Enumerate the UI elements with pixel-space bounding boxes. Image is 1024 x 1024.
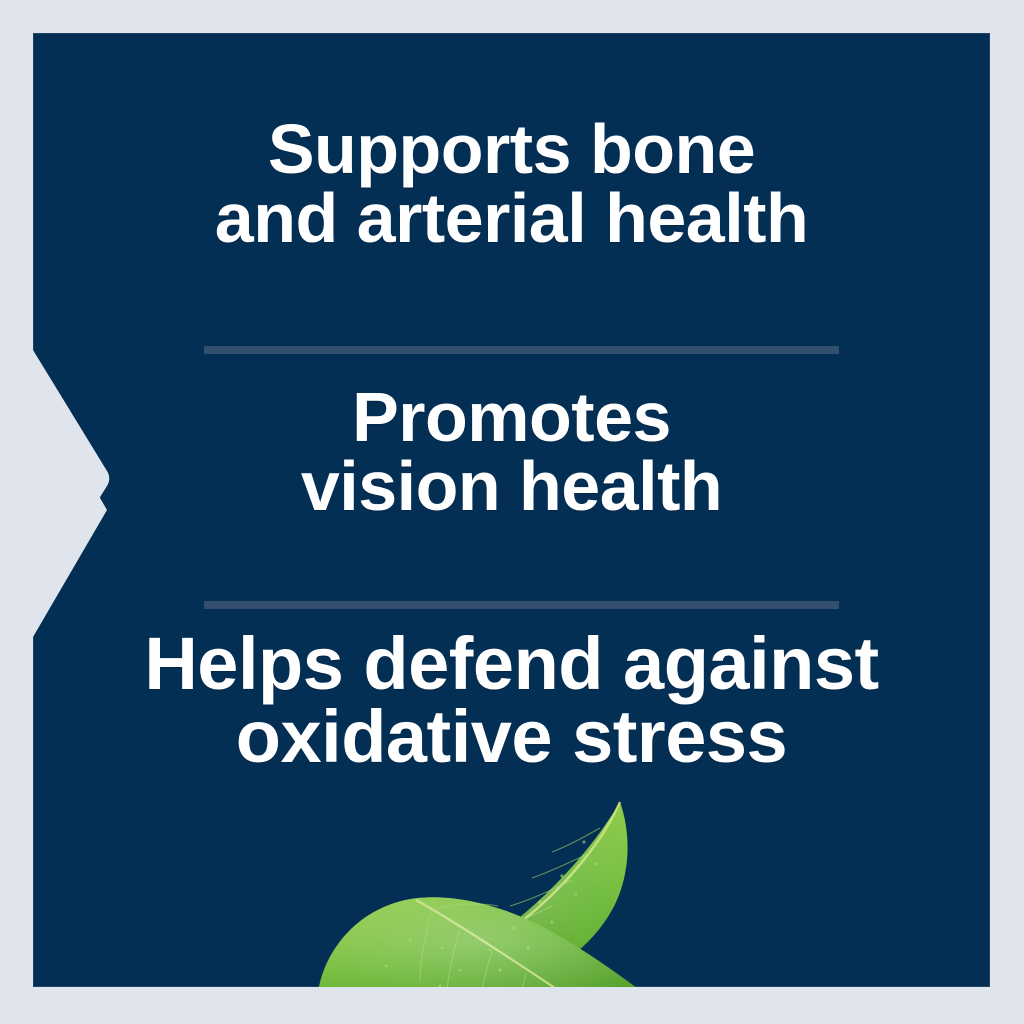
benefit-line-1: Promotes	[33, 383, 990, 452]
benefit-item-oxidative-stress: Helps defend against oxidative stress	[33, 628, 990, 773]
benefit-item-bone-arterial-health: Supports bone and arterial health	[33, 115, 990, 252]
bottom-margin	[0, 987, 1024, 1024]
benefit-line-1: Supports bone	[33, 115, 990, 184]
benefits-card-screenshot: Supports bone and arterial health Promot…	[0, 0, 1024, 1024]
benefits-content: Supports bone and arterial health Promot…	[33, 33, 990, 987]
benefit-divider-2	[204, 601, 839, 609]
benefit-item-vision-health: Promotes vision health	[33, 383, 990, 520]
chevron-right-icon	[0, 340, 120, 690]
benefit-divider-1	[204, 346, 839, 354]
benefit-line-2: vision health	[33, 452, 990, 521]
benefit-line-2: oxidative stress	[33, 701, 990, 774]
benefit-line-1: Helps defend against	[33, 628, 990, 701]
benefit-line-2: and arterial health	[33, 184, 990, 253]
right-margin	[990, 0, 1024, 1024]
